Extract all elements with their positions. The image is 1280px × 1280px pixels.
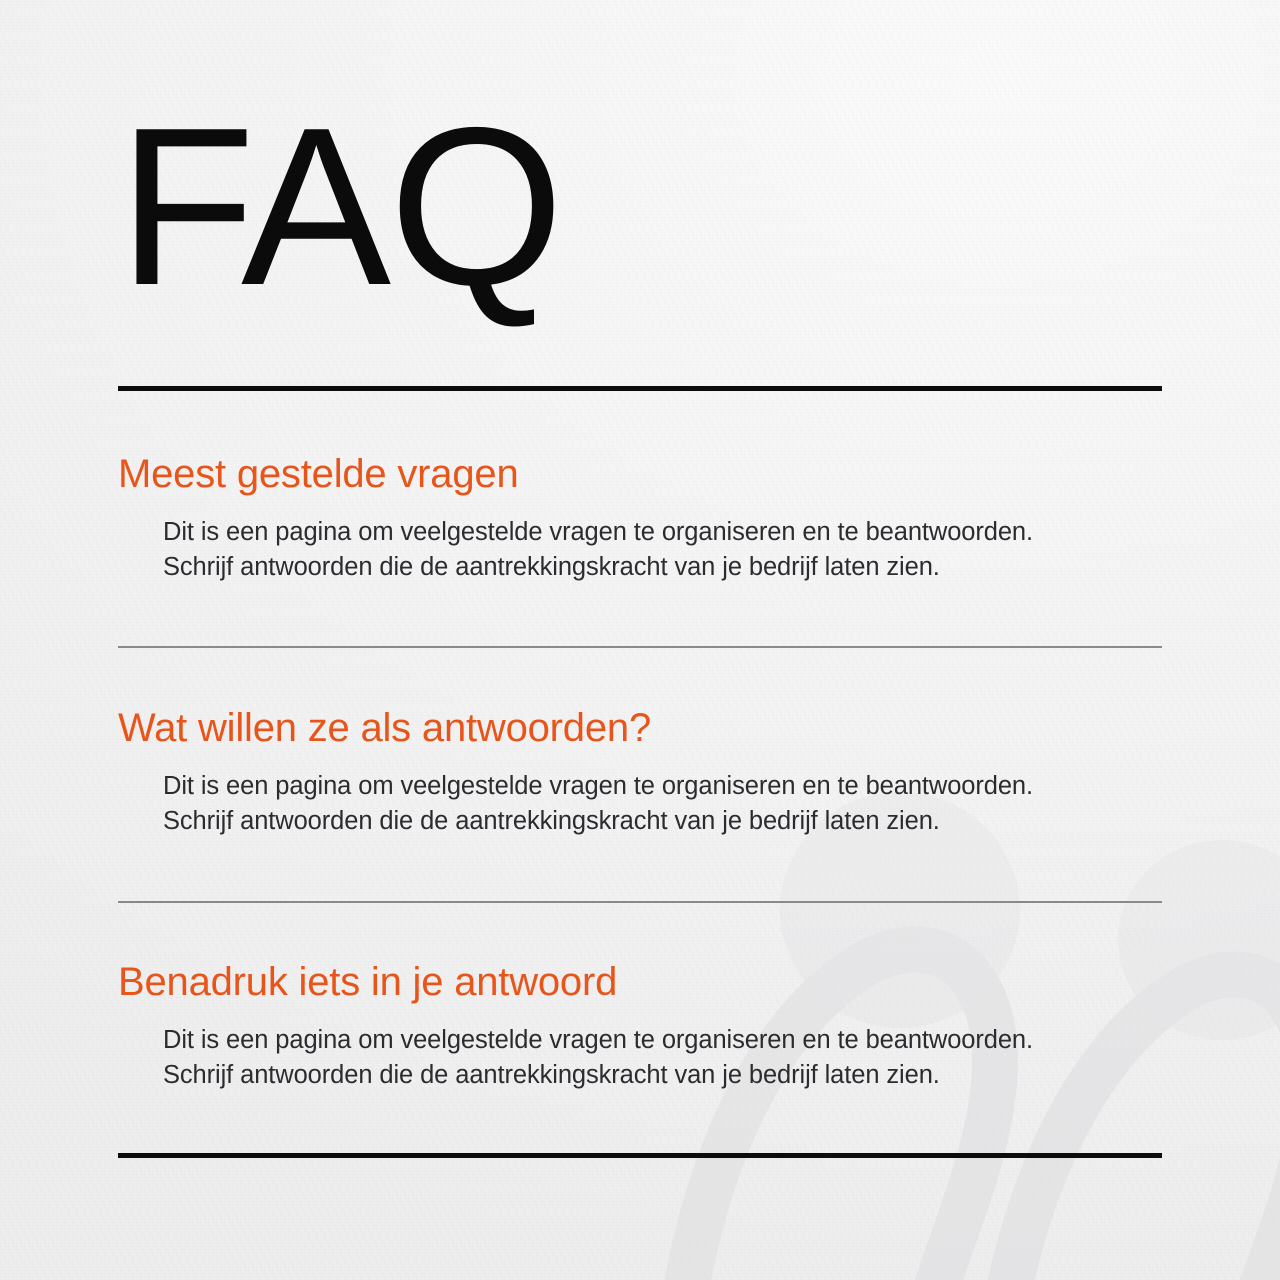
faq-item-2[interactable]: Wat willen ze als antwoorden? Dit is een…: [118, 706, 1178, 839]
faq-answer-3-line-2: Schrijf antwoorden die de aantrekkingskr…: [163, 1058, 1178, 1093]
faq-answer-2: Dit is een pagina om veelgestelde vragen…: [163, 769, 1178, 839]
divider-between-1-and-2: [118, 646, 1162, 648]
faq-question-1[interactable]: Meest gestelde vragen: [118, 452, 1178, 497]
faq-page: FAQ Meest gestelde vragen Dit is een pag…: [0, 0, 1280, 1280]
faq-item-3[interactable]: Benadruk iets in je antwoord Dit is een …: [118, 960, 1178, 1093]
divider-between-2-and-3: [118, 901, 1162, 903]
divider-top-heavy: [118, 386, 1162, 391]
faq-answer-2-line-2: Schrijf antwoorden die de aantrekkingskr…: [163, 804, 1178, 839]
faq-answer-1-line-1: Dit is een pagina om veelgestelde vragen…: [163, 515, 1178, 550]
faq-answer-3: Dit is een pagina om veelgestelde vragen…: [163, 1023, 1178, 1093]
faq-answer-1-line-2: Schrijf antwoorden die de aantrekkingskr…: [163, 550, 1178, 585]
faq-answer-2-line-1: Dit is een pagina om veelgestelde vragen…: [163, 769, 1178, 804]
faq-answer-1: Dit is een pagina om veelgestelde vragen…: [163, 515, 1178, 585]
faq-content: FAQ Meest gestelde vragen Dit is een pag…: [0, 0, 1280, 1280]
page-title: FAQ: [118, 103, 562, 310]
faq-item-1[interactable]: Meest gestelde vragen Dit is een pagina …: [118, 452, 1178, 585]
faq-answer-3-line-1: Dit is een pagina om veelgestelde vragen…: [163, 1023, 1178, 1058]
faq-question-3[interactable]: Benadruk iets in je antwoord: [118, 960, 1178, 1005]
divider-bottom-heavy: [118, 1153, 1162, 1158]
faq-question-2[interactable]: Wat willen ze als antwoorden?: [118, 706, 1178, 751]
